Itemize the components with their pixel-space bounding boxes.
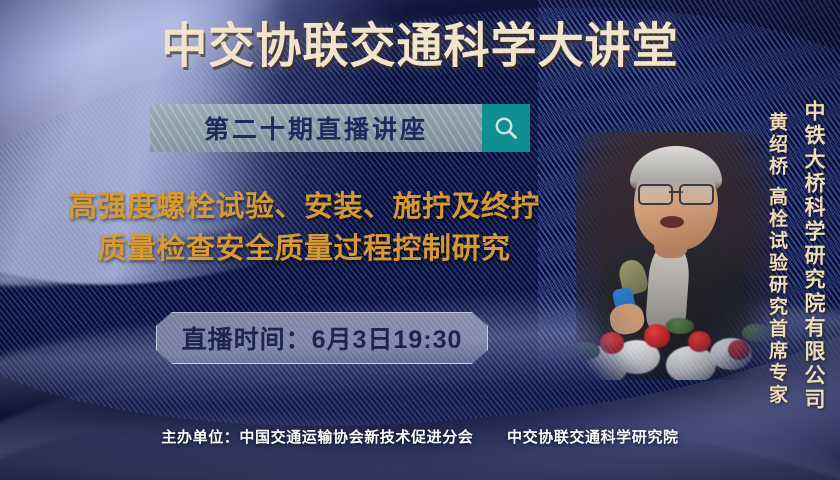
organizer-prefix: 主办单位：中国交通运输协会新技术促进分会 bbox=[161, 429, 473, 446]
speaker-organization: 中铁大桥科学研究院有限公司 bbox=[798, 100, 828, 412]
speaker-name-role: 黄绍桥 高栓试验研究首席专家 bbox=[763, 112, 790, 406]
broadcast-time-label: 直播时间：6月3日19:30 bbox=[182, 320, 463, 356]
topic-heading: 高强度螺栓试验、安装、施拧及终拧 质量检查安全质量过程控制研究 bbox=[4, 186, 604, 270]
event-poster: 中交协联交通科学大讲堂 第二十期直播讲座 高强度螺栓试验、安装、施拧及终拧 质量… bbox=[0, 0, 840, 480]
subtitle-label: 第二十期直播讲座 bbox=[204, 110, 428, 146]
broadcast-time-badge: 直播时间：6月3日19:30 bbox=[156, 312, 488, 364]
search-icon[interactable] bbox=[482, 104, 530, 152]
subtitle-bar: 第二十期直播讲座 bbox=[150, 104, 530, 152]
topic-line-2: 质量检查安全质量过程控制研究 bbox=[4, 228, 604, 270]
page-title: 中交协联交通科学大讲堂 bbox=[17, 18, 823, 76]
organizer-suffix: 中交协联交通科学研究院 bbox=[507, 429, 679, 446]
organizer-footer: 主办单位：中国交通运输协会新技术促进分会 中交协联交通科学研究院 bbox=[0, 426, 840, 447]
topic-line-1: 高强度螺栓试验、安装、施拧及终拧 bbox=[68, 191, 540, 223]
subtitle-bar-body: 第二十期直播讲座 bbox=[150, 104, 482, 152]
